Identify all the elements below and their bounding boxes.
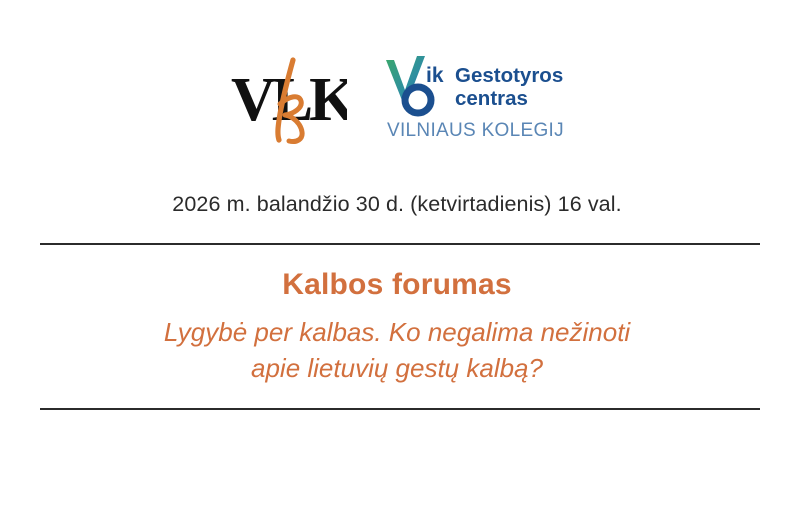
title-block: Kalbos forumas Lygybė per kalbas. Ko neg…: [0, 268, 794, 387]
viko-line2: centras: [455, 87, 528, 110]
vlkk-logo: VLKK: [231, 52, 347, 148]
logo-row: VLKK: [0, 52, 794, 148]
viko-logo: ik Gestotyros centras VILNIAUS KOLEGIJA: [383, 54, 563, 146]
vlkk-logo-graphic: VLKK: [231, 52, 347, 148]
viko-logo-graphic: ik Gestotyros centras VILNIAUS KOLEGIJA: [383, 54, 563, 146]
divider-top: [40, 243, 760, 245]
event-title: Kalbos forumas: [0, 268, 794, 303]
event-date-line: 2026 m. balandžio 30 d. (ketvirtadienis)…: [0, 192, 794, 217]
event-subtitle-line-1: Lygybė per kalbas. Ko negalima nežinoti: [0, 314, 794, 351]
viko-o-mark: [405, 87, 431, 113]
viko-line1: Gestotyros: [455, 64, 563, 87]
viko-ik-mark: ik: [426, 64, 444, 87]
divider-bottom: [40, 408, 760, 410]
event-subtitle-line-2: apie lietuvių gestų kalbą?: [0, 350, 794, 387]
viko-line3: VILNIAUS KOLEGIJA: [387, 120, 563, 141]
event-subtitle: Lygybė per kalbas. Ko negalima nežinoti …: [0, 303, 794, 388]
poster-canvas: VLKK: [0, 0, 794, 530]
